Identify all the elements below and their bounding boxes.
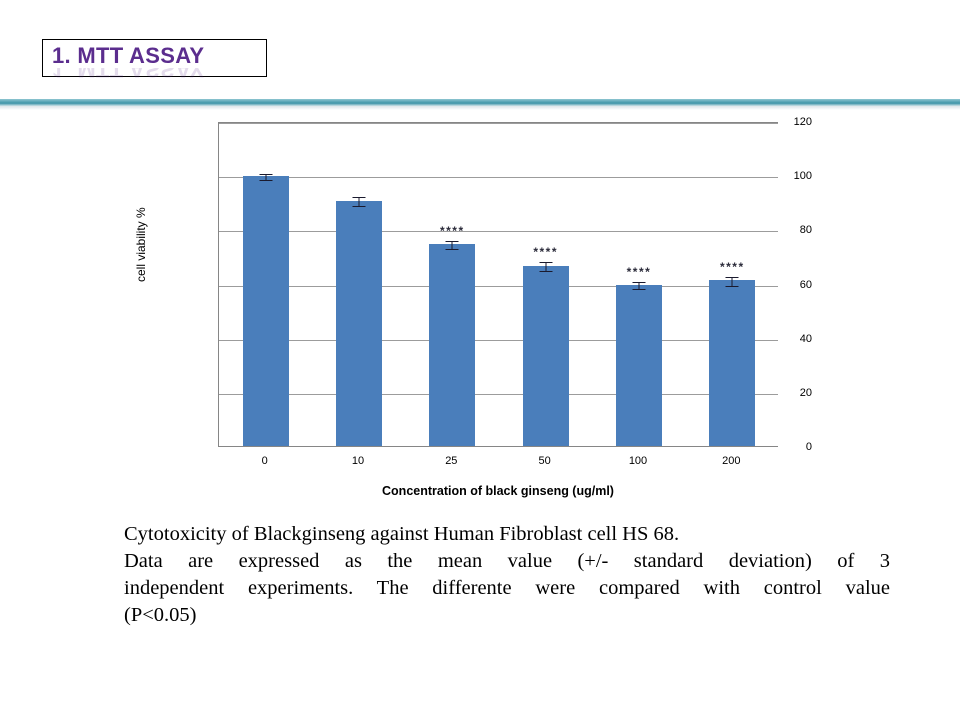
significance-marker: **** xyxy=(720,262,745,272)
caption-line-3: independent experiments. The differente … xyxy=(124,575,890,602)
x-axis-tick-label: 50 xyxy=(498,455,591,467)
error-bar xyxy=(452,241,453,249)
x-axis-tick-label: 200 xyxy=(685,455,778,467)
significance-marker: **** xyxy=(533,247,558,257)
x-axis-tick-label: 100 xyxy=(591,455,684,467)
x-axis-tick-label: 10 xyxy=(311,455,404,467)
bar xyxy=(336,201,382,447)
y-axis-tick-label: 100 xyxy=(754,170,820,182)
error-bar-cap-bottom xyxy=(539,271,552,272)
error-bar-cap-top xyxy=(726,277,739,278)
significance-marker: **** xyxy=(440,226,465,236)
bar-group: **** xyxy=(592,123,685,447)
bar xyxy=(616,285,662,448)
y-axis-tick-label: 40 xyxy=(754,333,820,345)
bar xyxy=(243,176,289,447)
error-bar-cap-top xyxy=(446,241,459,242)
bar xyxy=(523,266,569,447)
bar-group: **** xyxy=(499,123,592,447)
y-axis-tick-label: 80 xyxy=(754,224,820,236)
header-divider xyxy=(0,99,960,106)
caption-line-1: Cytotoxicity of Blackginseng against Hum… xyxy=(124,521,890,548)
mtt-bar-chart: cell viability % **************** 020406… xyxy=(140,112,820,502)
page-title-reflection: 1. MTT ASSAY xyxy=(52,68,204,84)
y-axis-tick-label: 120 xyxy=(754,116,820,128)
error-bar-cap-top xyxy=(632,282,645,283)
y-axis-tick-label: 0 xyxy=(754,441,820,453)
y-axis-tick-label: 20 xyxy=(754,387,820,399)
caption-line-4: (P<0.05) xyxy=(124,602,890,629)
error-bar-cap-top xyxy=(539,262,552,263)
error-bar-cap-bottom xyxy=(726,286,739,287)
bar-group: **** xyxy=(406,123,499,447)
figure-caption: Cytotoxicity of Blackginseng against Hum… xyxy=(124,521,890,629)
x-axis-line xyxy=(219,446,778,447)
y-axis-tick-label: 60 xyxy=(754,279,820,291)
header-divider-shadow xyxy=(0,106,960,110)
y-axis-title: cell viability % xyxy=(134,207,148,282)
error-bar xyxy=(358,197,359,207)
error-bar-cap-top xyxy=(259,174,272,175)
error-bar-cap-bottom xyxy=(632,289,645,290)
error-bar-cap-bottom xyxy=(352,206,365,207)
error-bar-cap-top xyxy=(352,197,365,198)
x-axis-title: Concentration of black ginseng (ug/ml) xyxy=(218,484,778,498)
error-bar xyxy=(732,277,733,285)
bars-layer: **************** xyxy=(219,123,778,447)
bar-group xyxy=(312,123,405,447)
x-axis-tick-label: 25 xyxy=(405,455,498,467)
plot-area: **************** xyxy=(218,122,778,447)
slide-canvas: 1. MTT ASSAY 1. MTT ASSAY cell viability… xyxy=(0,0,960,720)
error-bar-cap-bottom xyxy=(259,180,272,181)
bar-group xyxy=(219,123,312,447)
page-title: 1. MTT ASSAY xyxy=(52,41,204,71)
error-bar xyxy=(545,262,546,270)
error-bar-cap-bottom xyxy=(446,249,459,250)
x-axis-tick-label: 0 xyxy=(218,455,311,467)
caption-line-2: Data are expressed as the mean value (+/… xyxy=(124,548,890,575)
bar xyxy=(709,280,755,447)
bar xyxy=(429,244,475,447)
significance-marker: **** xyxy=(627,267,652,277)
